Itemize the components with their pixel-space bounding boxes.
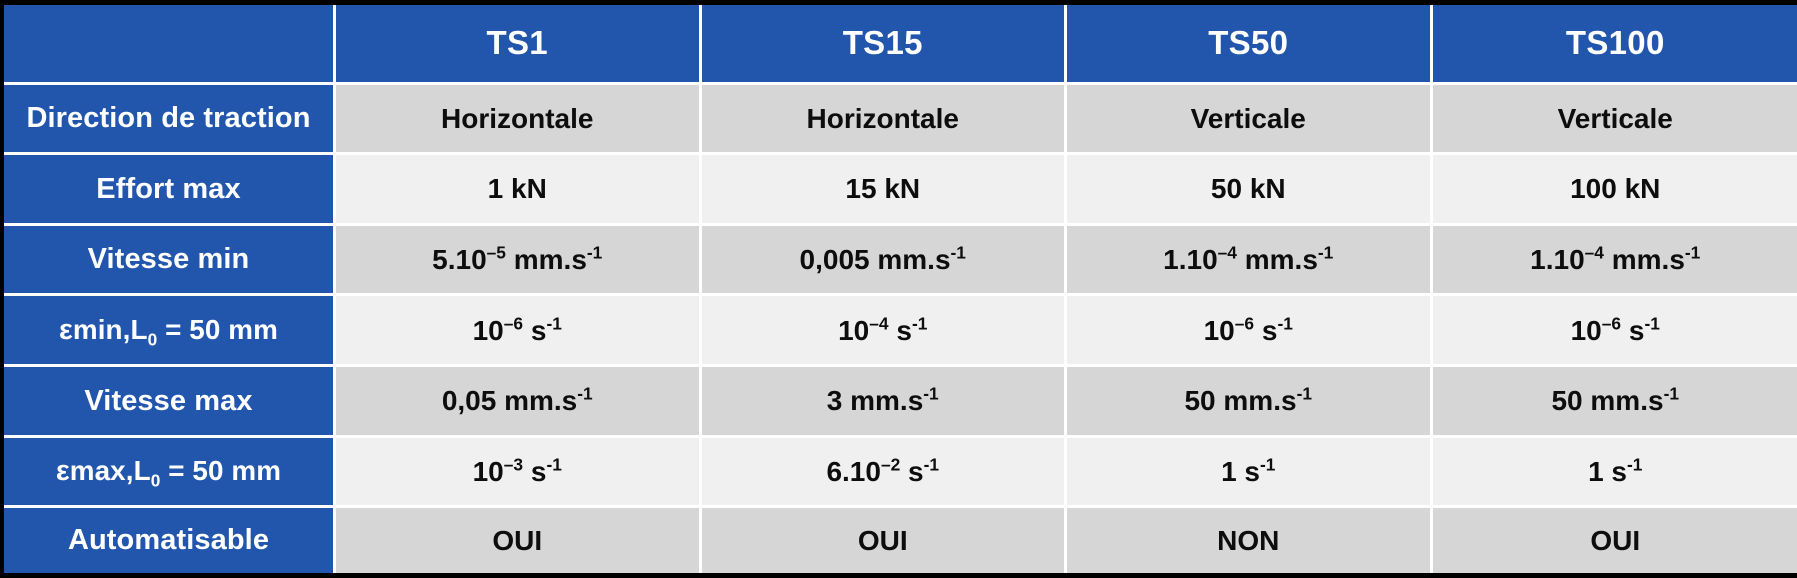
cell-r4-c4: 10–6 s-1	[1433, 296, 1797, 367]
table-container: TS1TS15TS50TS100Direction de tractionHor…	[0, 0, 1797, 578]
cell-r7-c3: NON	[1067, 508, 1433, 573]
table-row: εmin,L0 = 50 mm10–6 s-110–4 s-110–6 s-11…	[4, 296, 1797, 367]
cell-r2-c4: 100 kN	[1433, 155, 1797, 226]
cell-r2-c3: 50 kN	[1067, 155, 1433, 226]
cell-r5-c2: 3 mm.s-1	[702, 367, 1068, 438]
table-row: Vitesse max0,05 mm.s-13 mm.s-150 mm.s-15…	[4, 367, 1797, 438]
cell-r2-c2: 15 kN	[702, 155, 1068, 226]
tensile-machine-spec-table: TS1TS15TS50TS100Direction de tractionHor…	[4, 5, 1797, 573]
cell-r6-c2: 6.10–2 s-1	[702, 438, 1068, 509]
cell-r5-c4: 50 mm.s-1	[1433, 367, 1797, 438]
row-label: Vitesse max	[4, 367, 336, 438]
cell-r2-c1: 1 kN	[336, 155, 702, 226]
cell-r4-c3: 10–6 s-1	[1067, 296, 1433, 367]
table-row: Vitesse min5.10–5 mm.s-10,005 mm.s-11.10…	[4, 226, 1797, 297]
table-row: Direction de tractionHorizontaleHorizont…	[4, 85, 1797, 156]
cell-r4-c1: 10–6 s-1	[336, 296, 702, 367]
column-header-ts15: TS15	[702, 5, 1068, 85]
column-header-ts50: TS50	[1067, 5, 1433, 85]
cell-r3-c3: 1.10–4 mm.s-1	[1067, 226, 1433, 297]
cell-r3-c4: 1.10–4 mm.s-1	[1433, 226, 1797, 297]
header-corner-cell	[4, 5, 336, 85]
cell-r7-c4: OUI	[1433, 508, 1797, 573]
row-label: Automatisable	[4, 508, 336, 573]
column-header-ts100: TS100	[1433, 5, 1797, 85]
row-label: εmin,L0 = 50 mm	[4, 296, 336, 367]
cell-r5-c1: 0,05 mm.s-1	[336, 367, 702, 438]
cell-r1-c1: Horizontale	[336, 85, 702, 156]
cell-r1-c2: Horizontale	[702, 85, 1068, 156]
cell-r5-c3: 50 mm.s-1	[1067, 367, 1433, 438]
table-header-row: TS1TS15TS50TS100	[4, 5, 1797, 85]
cell-r3-c2: 0,005 mm.s-1	[702, 226, 1068, 297]
cell-r1-c4: Verticale	[1433, 85, 1797, 156]
cell-r4-c2: 10–4 s-1	[702, 296, 1068, 367]
cell-r6-c1: 10–3 s-1	[336, 438, 702, 509]
column-header-ts1: TS1	[336, 5, 702, 85]
cell-r6-c4: 1 s-1	[1433, 438, 1797, 509]
row-label: Effort max	[4, 155, 336, 226]
cell-r3-c1: 5.10–5 mm.s-1	[336, 226, 702, 297]
cell-r7-c2: OUI	[702, 508, 1068, 573]
cell-r1-c3: Verticale	[1067, 85, 1433, 156]
cell-r7-c1: OUI	[336, 508, 702, 573]
table-row: Effort max1 kN15 kN50 kN100 kN	[4, 155, 1797, 226]
cell-r6-c3: 1 s-1	[1067, 438, 1433, 509]
row-label: Vitesse min	[4, 226, 336, 297]
table-row: εmax,L0 = 50 mm10–3 s-16.10–2 s-11 s-11 …	[4, 438, 1797, 509]
row-label: εmax,L0 = 50 mm	[4, 438, 336, 509]
table-row: AutomatisableOUIOUINONOUI	[4, 508, 1797, 573]
row-label-subscript: min,L0 = 50 mm	[73, 314, 278, 345]
epsilon-dot-symbol: ε	[59, 314, 73, 346]
row-label: Direction de traction	[4, 85, 336, 156]
row-label-subscript: max,L0 = 50 mm	[70, 455, 281, 486]
epsilon-dot-symbol: ε	[56, 455, 70, 487]
